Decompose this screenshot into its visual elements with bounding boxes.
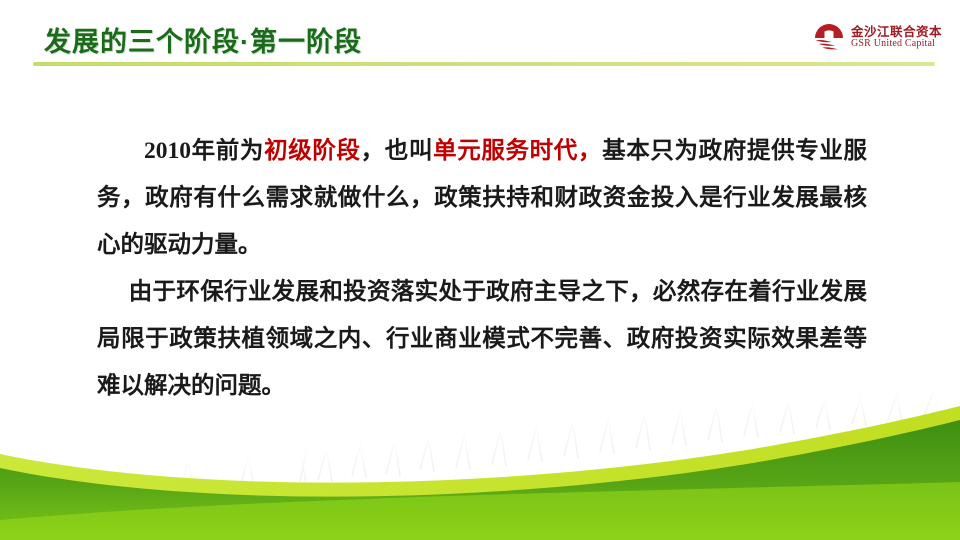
slide-canvas: 发展的三个阶段·第一阶段 金沙江联合资本 GSR United Capital … [0, 0, 960, 540]
body-paragraph-1: 2010年前为初级阶段，也叫单元服务时代，基本只为政府提供专业服务，政府有什么需… [97, 128, 867, 269]
paragraph1-segment-1: 2010年前为 [144, 138, 264, 164]
footer-decoration [0, 370, 960, 540]
brand-logo: 金沙江联合资本 GSR United Capital [813, 22, 942, 54]
paragraph1-segment-3: ，也叫 [361, 138, 433, 164]
slide-body: 2010年前为初级阶段，也叫单元服务时代，基本只为政府提供专业服务，政府有什么需… [97, 128, 867, 410]
gsr-sunrise-emblem-icon [813, 22, 845, 54]
page-title: 发展的三个阶段·第一阶段 [44, 20, 362, 59]
brand-logo-text: 金沙江联合资本 GSR United Capital [851, 26, 942, 50]
brand-name-en: GSR United Capital [851, 39, 942, 50]
paragraph1-highlight-1: 初级阶段 [264, 138, 361, 164]
paragraph1-highlight-2: 单元服务时代， [433, 138, 602, 164]
title-underline-divider [33, 62, 935, 66]
